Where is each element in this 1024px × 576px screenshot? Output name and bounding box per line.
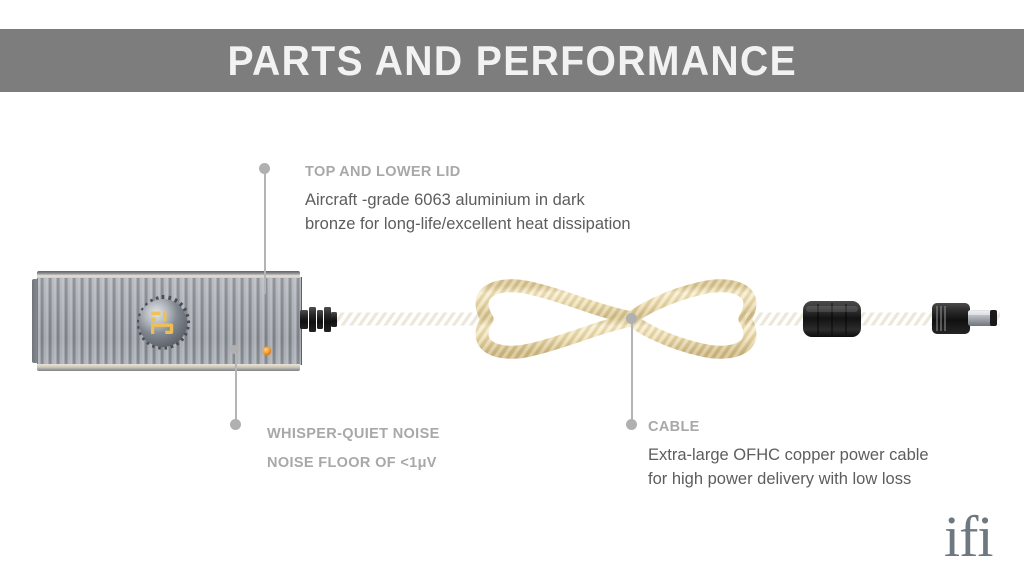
cable-braid — [335, 286, 1000, 353]
callout-heading-noise-line1: WHISPER-QUIET NOISE — [267, 426, 440, 442]
callout-heading-lid: TOP AND LOWER LID — [305, 164, 461, 180]
leader-dot-noise-anchor — [230, 345, 239, 354]
device-lower-lid — [37, 364, 300, 371]
brand-logo: ifi — [944, 508, 993, 566]
device-top-lid — [37, 271, 300, 278]
leader-line-cable — [631, 318, 633, 424]
leader-line-lid — [264, 172, 266, 294]
device-knob — [133, 293, 193, 353]
slide-canvas: PARTS AND PERFORMANCE — [0, 0, 1024, 576]
callout-body-lid: Aircraft -grade 6063 aluminium in dark b… — [305, 188, 631, 237]
device-strain-relief — [300, 307, 337, 332]
callout-heading-cable: CABLE — [648, 419, 700, 435]
leader-dot-lid — [259, 163, 270, 174]
leader-dot-cable-anchor — [626, 313, 637, 324]
page-title: PARTS AND PERFORMANCE — [227, 40, 797, 82]
dc-barrel-plug — [932, 303, 997, 334]
callout-heading-noise-line2: NOISE FLOOR OF <1μV — [267, 455, 437, 471]
knob-icon — [133, 293, 193, 353]
ferrite-core — [803, 301, 861, 337]
callout-body-cable: Extra-large OFHC copper power cable for … — [648, 443, 929, 492]
leader-line-noise — [235, 350, 237, 426]
header-bar: PARTS AND PERFORMANCE — [0, 29, 1024, 92]
leader-dot-noise — [230, 419, 241, 430]
leader-dot-cable — [626, 419, 637, 430]
status-led-icon — [263, 347, 271, 355]
